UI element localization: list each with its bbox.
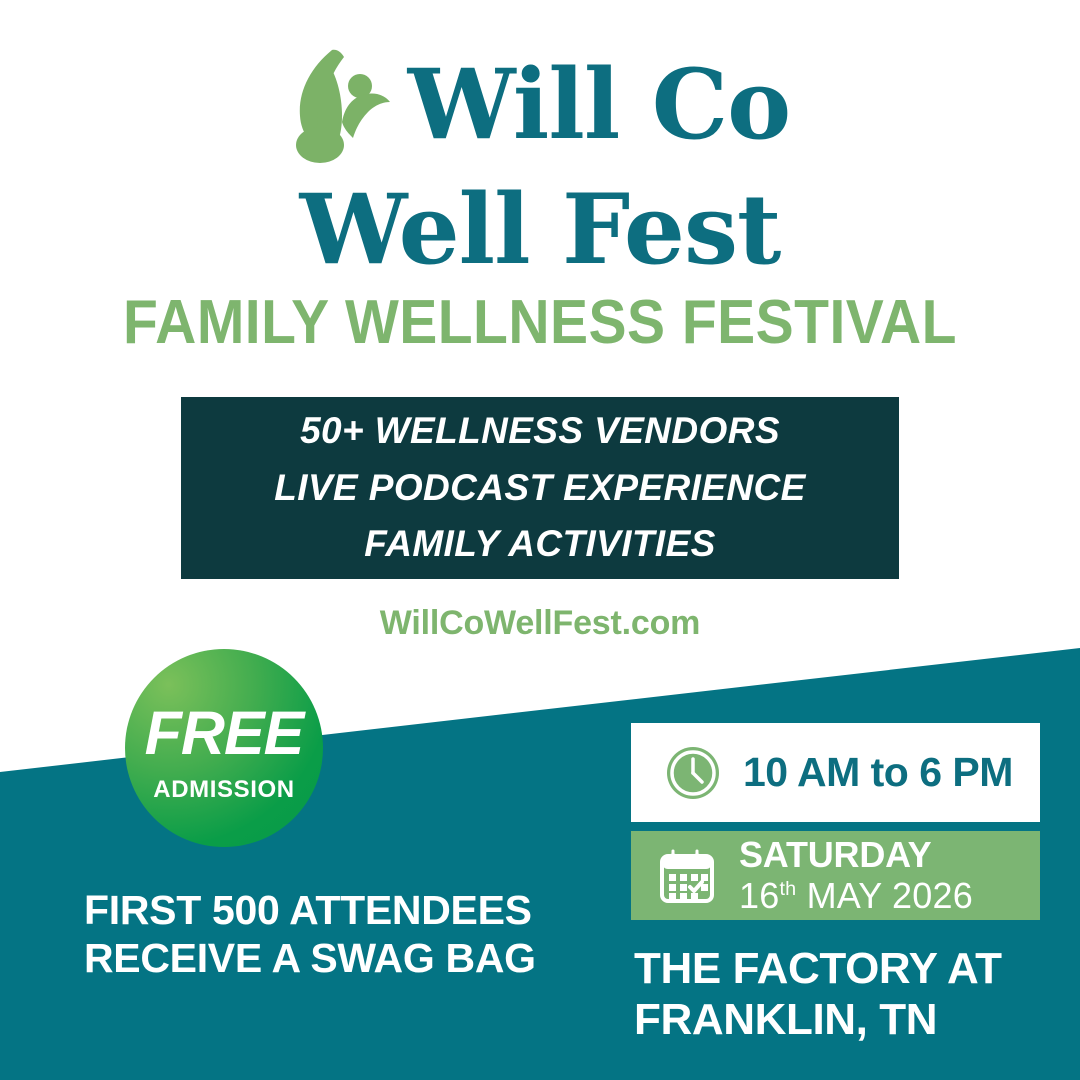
feature-line-podcast: LIVE PODCAST EXPERIENCE <box>274 461 805 516</box>
free-badge-headline: FREE <box>145 703 304 764</box>
free-badge-subline: ADMISSION <box>153 778 294 802</box>
website-url[interactable]: WillCoWellFest.com <box>0 604 1080 643</box>
features-panel: 50+ WELLNESS VENDORS LIVE PODCAST EXPERI… <box>181 397 899 579</box>
event-day-number: 16 <box>739 875 779 916</box>
calendar-icon <box>657 847 717 905</box>
event-day-ordinal: th <box>779 878 796 900</box>
event-date-text-block: SATURDAY 16th MAY 2026 <box>739 837 973 914</box>
event-flyer: Will Co Well Fest FAMILY WELLNESS FESTIV… <box>0 0 1080 1080</box>
swag-promo-line-1: FIRST 500 ATTENDEES <box>84 886 536 934</box>
venue-line-1: THE FACTORY AT <box>634 944 1002 995</box>
swag-promo-line-2: RECEIVE A SWAG BAG <box>84 934 536 982</box>
leaf-person-icon <box>290 46 394 164</box>
brand-name-line-1: Will Co <box>408 57 790 153</box>
clock-icon <box>665 745 721 801</box>
event-time-bar: 10 AM to 6 PM <box>631 723 1040 822</box>
event-venue: THE FACTORY AT FRANKLIN, TN <box>634 944 1002 1045</box>
event-month-year: MAY 2026 <box>807 875 973 916</box>
event-date-bar: SATURDAY 16th MAY 2026 <box>631 831 1040 920</box>
feature-line-activities: FAMILY ACTIVITIES <box>364 517 715 572</box>
swag-bag-promo: FIRST 500 ATTENDEES RECEIVE A SWAG BAG <box>84 886 536 983</box>
event-time-text: 10 AM to 6 PM <box>743 749 1013 796</box>
feature-line-vendors: 50+ WELLNESS VENDORS <box>300 404 780 459</box>
event-date-full: 16th MAY 2026 <box>739 878 973 914</box>
brand-logo-row: Will Co <box>0 46 1080 164</box>
festival-subtitle: FAMILY WELLNESS FESTIVAL <box>43 292 1037 354</box>
event-weekday: SATURDAY <box>739 837 973 873</box>
brand-name-line-2: Well Fest <box>0 182 1080 278</box>
free-admission-badge: FREE ADMISSION <box>125 649 323 847</box>
venue-line-2: FRANKLIN, TN <box>634 995 1002 1046</box>
